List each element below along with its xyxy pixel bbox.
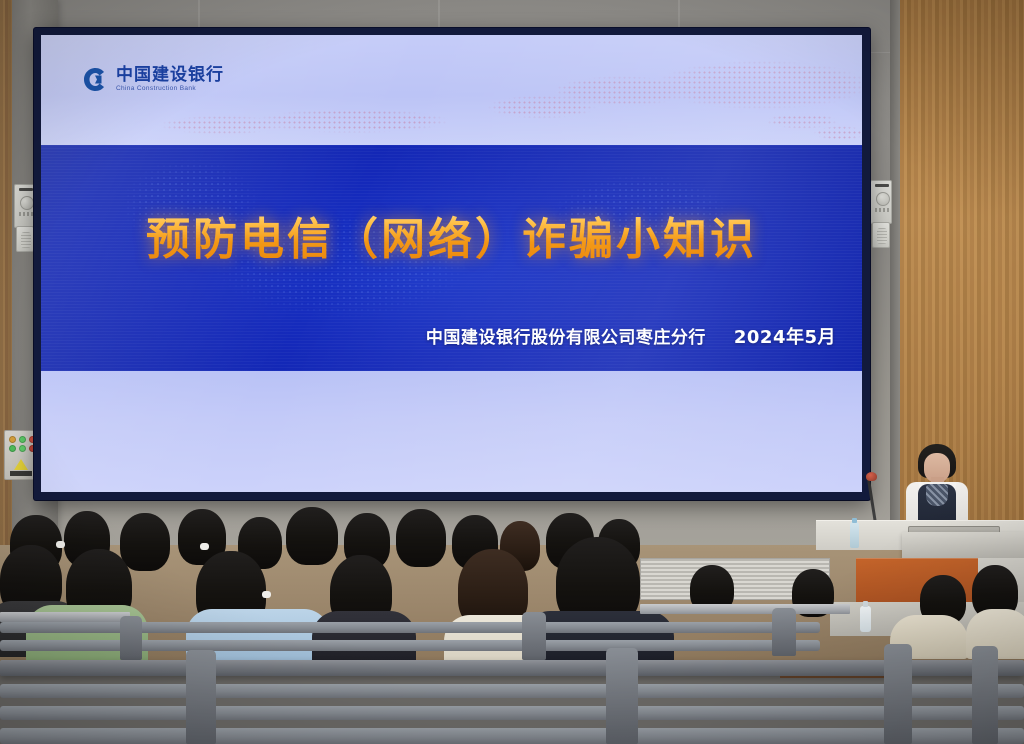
slide-bottom-band [41,371,862,492]
projection-screen: 中国建设银行 China Construction Bank 预防电信（网络）诈… [41,35,862,492]
slide-title: 预防电信（网络）诈骗小知识 [41,203,862,267]
bench-armrest-post [884,644,912,744]
bench-armrest-post [606,648,638,744]
world-map-dot-pattern [102,45,862,145]
controller-display [875,184,889,187]
indicator-green-2 [9,445,16,452]
slide-footer: 中国建设银行股份有限公司枣庄分行 2024年5月 [426,323,836,349]
warning-triangle-icon [14,459,28,470]
indicator-light-group [9,436,37,452]
controller-display [19,188,33,191]
indicator-amber-1 [9,436,16,443]
desk-surface [640,604,850,614]
slide-body-band: 预防电信（网络）诈骗小知识 预防电信（网络）诈骗小知识 中国建设银行股份有限公司… [41,145,862,371]
attendee-torso [312,611,416,667]
wall-mounted-speaker-right [872,222,890,248]
attendee-head [286,507,338,565]
gooseneck-microphone-head [866,472,877,481]
bench-armrest-post [772,608,796,656]
emergency-indicator-panel[interactable] [4,430,38,480]
bench-back-rail [0,684,1024,698]
slide-footer-organization: 中国建设银行股份有限公司枣庄分行 [426,323,706,348]
attendee-head [120,513,170,571]
hair-tie [200,543,209,550]
indicator-green-1 [19,436,26,443]
ccb-logo: 中国建设银行 China Construction Bank [83,67,224,93]
attendee-head [396,509,446,567]
panel-label-strip [10,471,32,476]
wall-mounted-speaker-left [16,226,34,252]
indicator-green-3 [19,445,26,452]
bench-back-rail [0,706,1024,720]
bench-armrest-post [522,612,546,660]
presenter-neck-scarf [926,484,948,506]
lecture-hall-photo: 中国建设银行 China Construction Bank 预防电信（网络）诈… [0,0,1024,744]
desk-surface [0,612,130,622]
bench-armrest-post [972,646,998,744]
bench-back [0,660,1024,676]
controller-knob[interactable] [20,196,34,210]
ccb-name-english: China Construction Bank [116,86,224,93]
ccb-name-chinese: 中国建设银行 [116,67,224,84]
bench-armrest-post [120,616,142,660]
controller-buttons[interactable] [19,212,33,216]
controller-buttons[interactable] [875,208,889,212]
hair-tie [56,541,65,548]
china-construction-bank-logo-mark [83,67,108,92]
ccb-logo-text: 中国建设银行 China Construction Bank [116,67,224,93]
projection-screen-frame: 中国建设银行 China Construction Bank 预防电信（网络）诈… [34,28,870,500]
wall-mounted-controller-right[interactable] [870,180,892,224]
bench-armrest-post [186,650,216,744]
bench-seat-rail [0,728,1024,744]
hair-tie [262,591,271,598]
controller-knob[interactable] [876,192,890,206]
wall-mounted-controller-left[interactable] [14,184,36,228]
slide-footer-date: 2024年5月 [734,323,836,349]
